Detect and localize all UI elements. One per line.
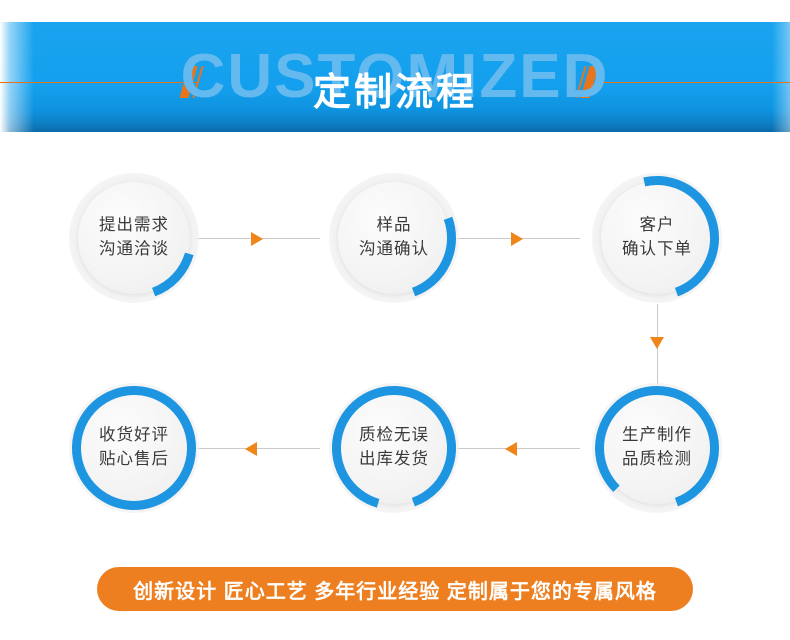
- arrow-step4-to-step5-icon: [505, 442, 517, 456]
- step-label-line2: 出库发货: [359, 448, 429, 472]
- flow-step-3[interactable]: 客户 确认下单: [592, 173, 722, 303]
- step-label-line1: 客户: [640, 214, 675, 238]
- step-label-line1: 收货好评: [99, 424, 169, 448]
- step-label-line1: 质检无误: [359, 424, 429, 448]
- header-banner: CUSTOMIZED 定制流程: [0, 22, 790, 132]
- step-label-line2: 沟通洽谈: [99, 238, 169, 262]
- step-label: 提出需求 沟通洽谈: [69, 173, 199, 303]
- step-label-line2: 确认下单: [622, 238, 692, 262]
- connector-step4-step5: [456, 448, 580, 449]
- process-flow-diagram: 提出需求 沟通洽谈 样品 沟通确认 客户 确认下单: [0, 132, 790, 552]
- step-label: 质检无误 出库发货: [329, 383, 459, 513]
- footer-tagline-banner: 创新设计 匠心工艺 多年行业经验 定制属于您的专属风格: [97, 567, 693, 611]
- step-label-line2: 沟通确认: [359, 238, 429, 262]
- flow-step-6[interactable]: 收货好评 贴心售后: [69, 383, 199, 513]
- step-label: 收货好评 贴心售后: [69, 383, 199, 513]
- step-label-line1: 生产制作: [622, 424, 692, 448]
- flow-step-4[interactable]: 生产制作 品质检测: [592, 383, 722, 513]
- page-title: 定制流程: [0, 74, 790, 112]
- arrow-step2-to-step3-icon: [511, 232, 523, 246]
- arrow-step5-to-step6-icon: [245, 442, 257, 456]
- footer-tagline-text: 创新设计 匠心工艺 多年行业经验 定制属于您的专属风格: [133, 575, 657, 604]
- step-label-line2: 贴心售后: [99, 448, 169, 472]
- connector-step5-step6: [196, 448, 320, 449]
- step-label: 生产制作 品质检测: [592, 383, 722, 513]
- flow-step-2[interactable]: 样品 沟通确认: [329, 173, 459, 303]
- flow-step-5[interactable]: 质检无误 出库发货: [329, 383, 459, 513]
- step-label-line2: 品质检测: [622, 448, 692, 472]
- arrow-step3-to-step4-icon: [650, 337, 664, 349]
- flow-step-1[interactable]: 提出需求 沟通洽谈: [69, 173, 199, 303]
- step-label-line1: 提出需求: [99, 214, 169, 238]
- step-label: 客户 确认下单: [592, 173, 722, 303]
- arrow-step1-to-step2-icon: [251, 232, 263, 246]
- step-label: 样品 沟通确认: [329, 173, 459, 303]
- step-label-line1: 样品: [377, 214, 412, 238]
